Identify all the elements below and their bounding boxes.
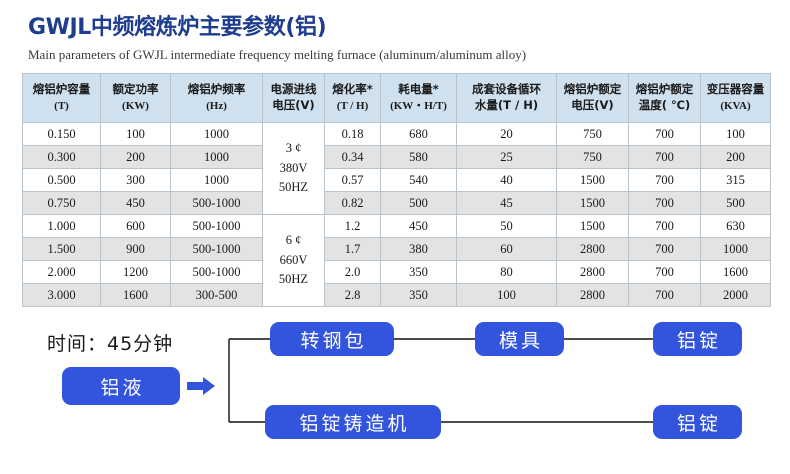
cell-melt-rate: 1.7	[325, 238, 381, 261]
cell-water: 80	[457, 261, 557, 284]
cell-capacity: 2.000	[23, 261, 101, 284]
cell-rated-voltage: 2800	[557, 261, 629, 284]
cell-frequency: 500-1000	[171, 261, 263, 284]
cell-rated-voltage: 750	[557, 123, 629, 146]
table-body: 0.15010010003 ¢380V50HZ0.186802075070010…	[23, 123, 771, 307]
cell-melt-rate: 0.18	[325, 123, 381, 146]
cell-consumption: 580	[381, 146, 457, 169]
cell-rated-voltage: 1500	[557, 169, 629, 192]
specifications-table: 熔铝炉容量 (T) 额定功率 (KW) 熔铝炉频率 (Hz) 电源进线 电压(V…	[22, 73, 771, 307]
table-header-row: 熔铝炉容量 (T) 额定功率 (KW) 熔铝炉频率 (Hz) 电源进线 电压(V…	[23, 74, 771, 123]
cell-transformer: 500	[701, 192, 771, 215]
cell-consumption: 500	[381, 192, 457, 215]
col-header-rated-voltage: 熔铝炉额定 电压(V)	[557, 74, 629, 123]
cell-consumption: 380	[381, 238, 457, 261]
flow-node-ingot-top[interactable]: 铝锭	[653, 322, 742, 356]
table-row: 0.50030010000.57540401500700315	[23, 169, 771, 192]
cell-power: 1200	[101, 261, 171, 284]
cell-frequency: 1000	[171, 123, 263, 146]
cell-input-voltage: 6 ¢660V50HZ	[263, 215, 325, 307]
cell-input-voltage: 3 ¢380V50HZ	[263, 123, 325, 215]
cell-transformer: 630	[701, 215, 771, 238]
process-flow-diagram: 时间：45分钟 铝液 转钢包 模具 铝锭 铝锭铸造机 铝锭	[0, 296, 790, 474]
cell-rated-temp: 700	[629, 192, 701, 215]
page-subtitle: Main parameters of GWJL intermediate fre…	[28, 47, 526, 63]
cell-rated-temp: 700	[629, 238, 701, 261]
col-header-frequency: 熔铝炉频率 (Hz)	[171, 74, 263, 123]
cell-frequency: 500-1000	[171, 238, 263, 261]
cell-transformer: 1000	[701, 238, 771, 261]
flow-node-ingot-casting-machine[interactable]: 铝锭铸造机	[265, 405, 441, 439]
cell-transformer: 200	[701, 146, 771, 169]
cell-rated-temp: 700	[629, 169, 701, 192]
cell-capacity: 0.750	[23, 192, 101, 215]
cell-rated-temp: 700	[629, 215, 701, 238]
cell-frequency: 1000	[171, 169, 263, 192]
cell-capacity: 1.000	[23, 215, 101, 238]
cell-capacity: 0.300	[23, 146, 101, 169]
cell-power: 450	[101, 192, 171, 215]
cell-rated-temp: 700	[629, 146, 701, 169]
cell-water: 40	[457, 169, 557, 192]
cell-power: 200	[101, 146, 171, 169]
cell-water: 20	[457, 123, 557, 146]
cell-rated-voltage: 2800	[557, 238, 629, 261]
col-header-power: 额定功率 (KW)	[101, 74, 171, 123]
flow-node-molten-aluminum[interactable]: 铝液	[62, 367, 180, 405]
cell-melt-rate: 1.2	[325, 215, 381, 238]
col-header-input-voltage: 电源进线 电压(V)	[263, 74, 325, 123]
table-row: 1.500900500-10001.73806028007001000	[23, 238, 771, 261]
cell-consumption: 680	[381, 123, 457, 146]
cell-power: 100	[101, 123, 171, 146]
cell-water: 25	[457, 146, 557, 169]
cell-rated-voltage: 1500	[557, 192, 629, 215]
time-label: 时间：45分钟	[47, 329, 173, 356]
flow-node-ingot-bottom[interactable]: 铝锭	[653, 405, 742, 439]
page-title: GWJL中频熔炼炉主要参数(铝)	[28, 14, 526, 42]
cell-transformer: 1600	[701, 261, 771, 284]
cell-water: 50	[457, 215, 557, 238]
spec-table-container: 熔铝炉容量 (T) 额定功率 (KW) 熔铝炉频率 (Hz) 电源进线 电压(V…	[22, 73, 770, 307]
cell-melt-rate: 2.0	[325, 261, 381, 284]
cell-power: 300	[101, 169, 171, 192]
cell-frequency: 500-1000	[171, 192, 263, 215]
col-header-transformer: 变压器容量 (KVA)	[701, 74, 771, 123]
col-header-capacity: 熔铝炉容量 (T)	[23, 74, 101, 123]
cell-transformer: 100	[701, 123, 771, 146]
cell-rated-voltage: 750	[557, 146, 629, 169]
flow-node-mold[interactable]: 模具	[475, 322, 564, 356]
cell-rated-temp: 700	[629, 261, 701, 284]
table-row: 0.15010010003 ¢380V50HZ0.186802075070010…	[23, 123, 771, 146]
flow-node-ladle[interactable]: 转钢包	[270, 322, 394, 356]
right-arrow-icon	[187, 377, 215, 395]
cell-melt-rate: 0.34	[325, 146, 381, 169]
table-row: 2.0001200500-10002.03508028007001600	[23, 261, 771, 284]
cell-frequency: 1000	[171, 146, 263, 169]
col-header-consumption: 耗电量* (KW・H/T)	[381, 74, 457, 123]
cell-consumption: 350	[381, 261, 457, 284]
cell-consumption: 540	[381, 169, 457, 192]
cell-capacity: 1.500	[23, 238, 101, 261]
cell-power: 600	[101, 215, 171, 238]
table-row: 0.750450500-10000.82500451500700500	[23, 192, 771, 215]
page-header: GWJL中频熔炼炉主要参数(铝) Main parameters of GWJL…	[28, 14, 526, 63]
table-row: 1.000600500-10006 ¢660V50HZ1.24505015007…	[23, 215, 771, 238]
cell-melt-rate: 0.57	[325, 169, 381, 192]
cell-consumption: 450	[381, 215, 457, 238]
col-header-water: 成套设备循环 水量(T / H)	[457, 74, 557, 123]
col-header-melt-rate: 熔化率* (T / H)	[325, 74, 381, 123]
cell-frequency: 500-1000	[171, 215, 263, 238]
col-header-rated-temp: 熔铝炉额定 温度( ℃)	[629, 74, 701, 123]
cell-rated-voltage: 1500	[557, 215, 629, 238]
cell-melt-rate: 0.82	[325, 192, 381, 215]
cell-capacity: 0.150	[23, 123, 101, 146]
cell-water: 60	[457, 238, 557, 261]
cell-power: 900	[101, 238, 171, 261]
cell-transformer: 315	[701, 169, 771, 192]
cell-water: 45	[457, 192, 557, 215]
cell-capacity: 0.500	[23, 169, 101, 192]
cell-rated-temp: 700	[629, 123, 701, 146]
table-row: 0.30020010000.3458025750700200	[23, 146, 771, 169]
